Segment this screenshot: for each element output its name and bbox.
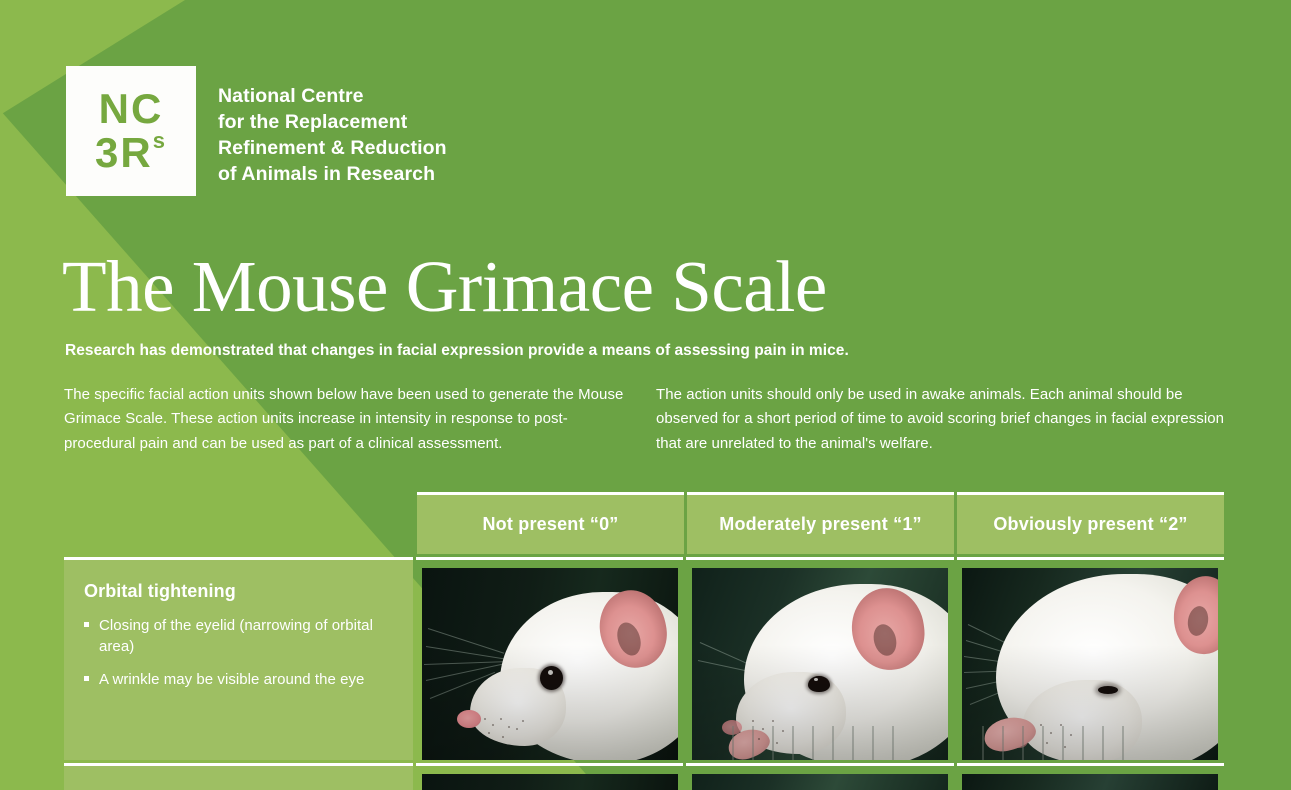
logo-name-line-1: National Centre [218, 84, 447, 110]
intro-columns: The specific facial action units shown b… [64, 383, 1224, 456]
list-item-text: Closing of the eyelid (narrowing of orbi… [99, 617, 373, 655]
logo-name-line-3: Refinement & Reduction [218, 136, 447, 162]
list-item-text: A wrinkle may be visible around the eye [99, 671, 364, 688]
row-label-orbital-tightening: Orbital tightening Closing of the eyelid… [64, 557, 413, 760]
page-lede: Research has demonstrated that changes i… [65, 342, 849, 360]
row-title: Orbital tightening [84, 581, 387, 602]
table-row: Orbital tightening Closing of the eyelid… [64, 557, 1224, 760]
column-header-score-0: Not present “0” [417, 492, 684, 554]
page-title: The Mouse Grimace Scale [62, 250, 827, 323]
mouse-photo-next-score-2 [962, 774, 1218, 790]
logo-line-3r: 3Rs [95, 132, 167, 174]
photo-cell-score-2 [957, 763, 1224, 790]
mouse-photo-next-score-0 [422, 774, 678, 790]
intro-column-left: The specific facial action units shown b… [64, 383, 632, 456]
photo-cell-score-0 [416, 557, 683, 760]
logo-mark: NC 3Rs [66, 66, 196, 196]
mouse-photo-orbital-score-0 [422, 568, 678, 760]
photo-cell-score-2 [957, 557, 1224, 760]
list-item: A wrinkle may be visible around the eye [84, 669, 387, 690]
grimace-scale-table: Not present “0” Moderately present “1” O… [64, 492, 1224, 790]
list-item: Closing of the eyelid (narrowing of orbi… [84, 615, 387, 658]
logo-line-nc: NC [99, 88, 164, 130]
table-header-row: Not present “0” Moderately present “1” O… [417, 492, 1224, 554]
logo-3r-text: 3R [95, 132, 153, 174]
column-header-score-1: Moderately present “1” [687, 492, 954, 554]
row-bullet-list: Closing of the eyelid (narrowing of orbi… [84, 615, 387, 690]
logo-name-line-2: for the Replacement [218, 110, 447, 136]
intro-column-right: The action units should only be used in … [656, 383, 1224, 456]
logo-name-line-4: of Animals in Research [218, 162, 447, 188]
photo-cell-score-0 [416, 763, 683, 790]
logo-superscript-s: s [153, 130, 167, 152]
bullet-square-icon [84, 676, 89, 681]
column-header-score-2: Obviously present “2” [957, 492, 1224, 554]
mouse-photo-orbital-score-2 [962, 568, 1218, 760]
poster-page: NC 3Rs National Centre for the Replaceme… [0, 0, 1291, 790]
photo-cell-score-1 [686, 557, 953, 760]
bullet-square-icon [84, 622, 89, 627]
logo-organisation-name: National Centre for the Replacement Refi… [218, 66, 447, 188]
photo-cell-score-1 [686, 763, 953, 790]
table-row [64, 763, 1224, 790]
row-label-next [64, 763, 413, 790]
mouse-photo-next-score-1 [692, 774, 948, 790]
mouse-photo-orbital-score-1 [692, 568, 948, 760]
nc3rs-logo: NC 3Rs National Centre for the Replaceme… [66, 66, 447, 196]
